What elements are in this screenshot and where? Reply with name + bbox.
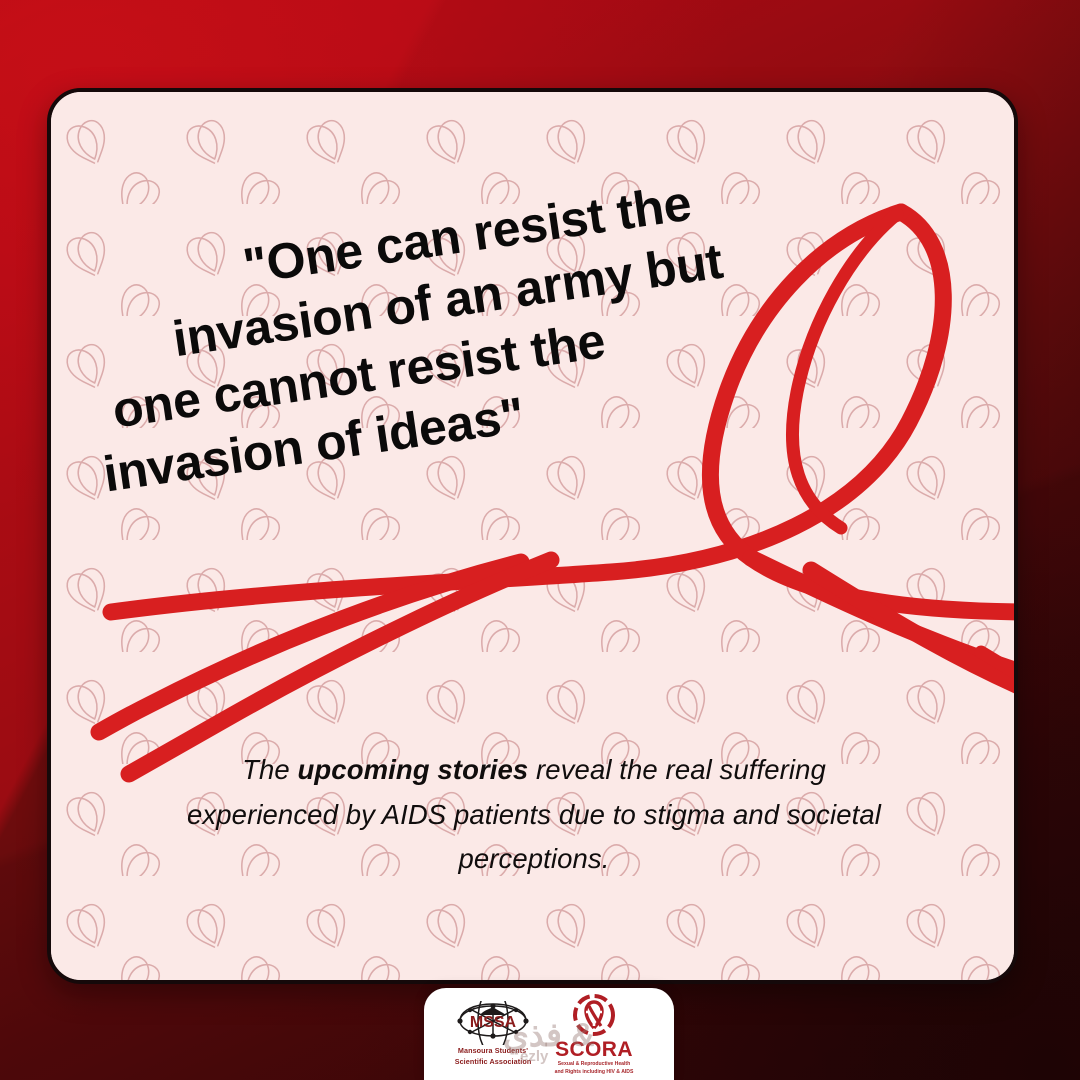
scora-tagline-line-2: and Rights including HIV & AIDS (540, 1069, 648, 1076)
content-card: "One can resist the invasion of an army … (47, 88, 1018, 984)
mssa-name-line-2: Scientific Association (455, 1057, 532, 1067)
caption-emphasis: upcoming stories (298, 754, 529, 785)
caption-text: The upcoming stories reveal the real suf… (169, 748, 899, 882)
mssa-logo: MSSA Mansoura Students' Scientific Assoc… (450, 1001, 536, 1066)
scora-ribbon-circle-icon (571, 992, 617, 1038)
poster-root: "One can resist the invasion of an army … (0, 0, 1080, 1080)
mssa-name-line-1: Mansoura Students' (458, 1046, 528, 1056)
mssa-acronym: MSSA (470, 1014, 517, 1031)
caption-prefix: The (242, 754, 297, 785)
scora-tagline-line-1: Sexual & Reproductive Health (540, 1061, 648, 1068)
scora-wordmark: SCORA (555, 1039, 633, 1060)
logo-bar: MSSA Mansoura Students' Scientific Assoc… (424, 988, 674, 1080)
globe-atom-icon: MSSA (450, 1001, 536, 1045)
scora-logo: SCORA Sexual & Reproductive Health and R… (540, 992, 648, 1076)
card-inner: "One can resist the invasion of an army … (51, 92, 1014, 980)
